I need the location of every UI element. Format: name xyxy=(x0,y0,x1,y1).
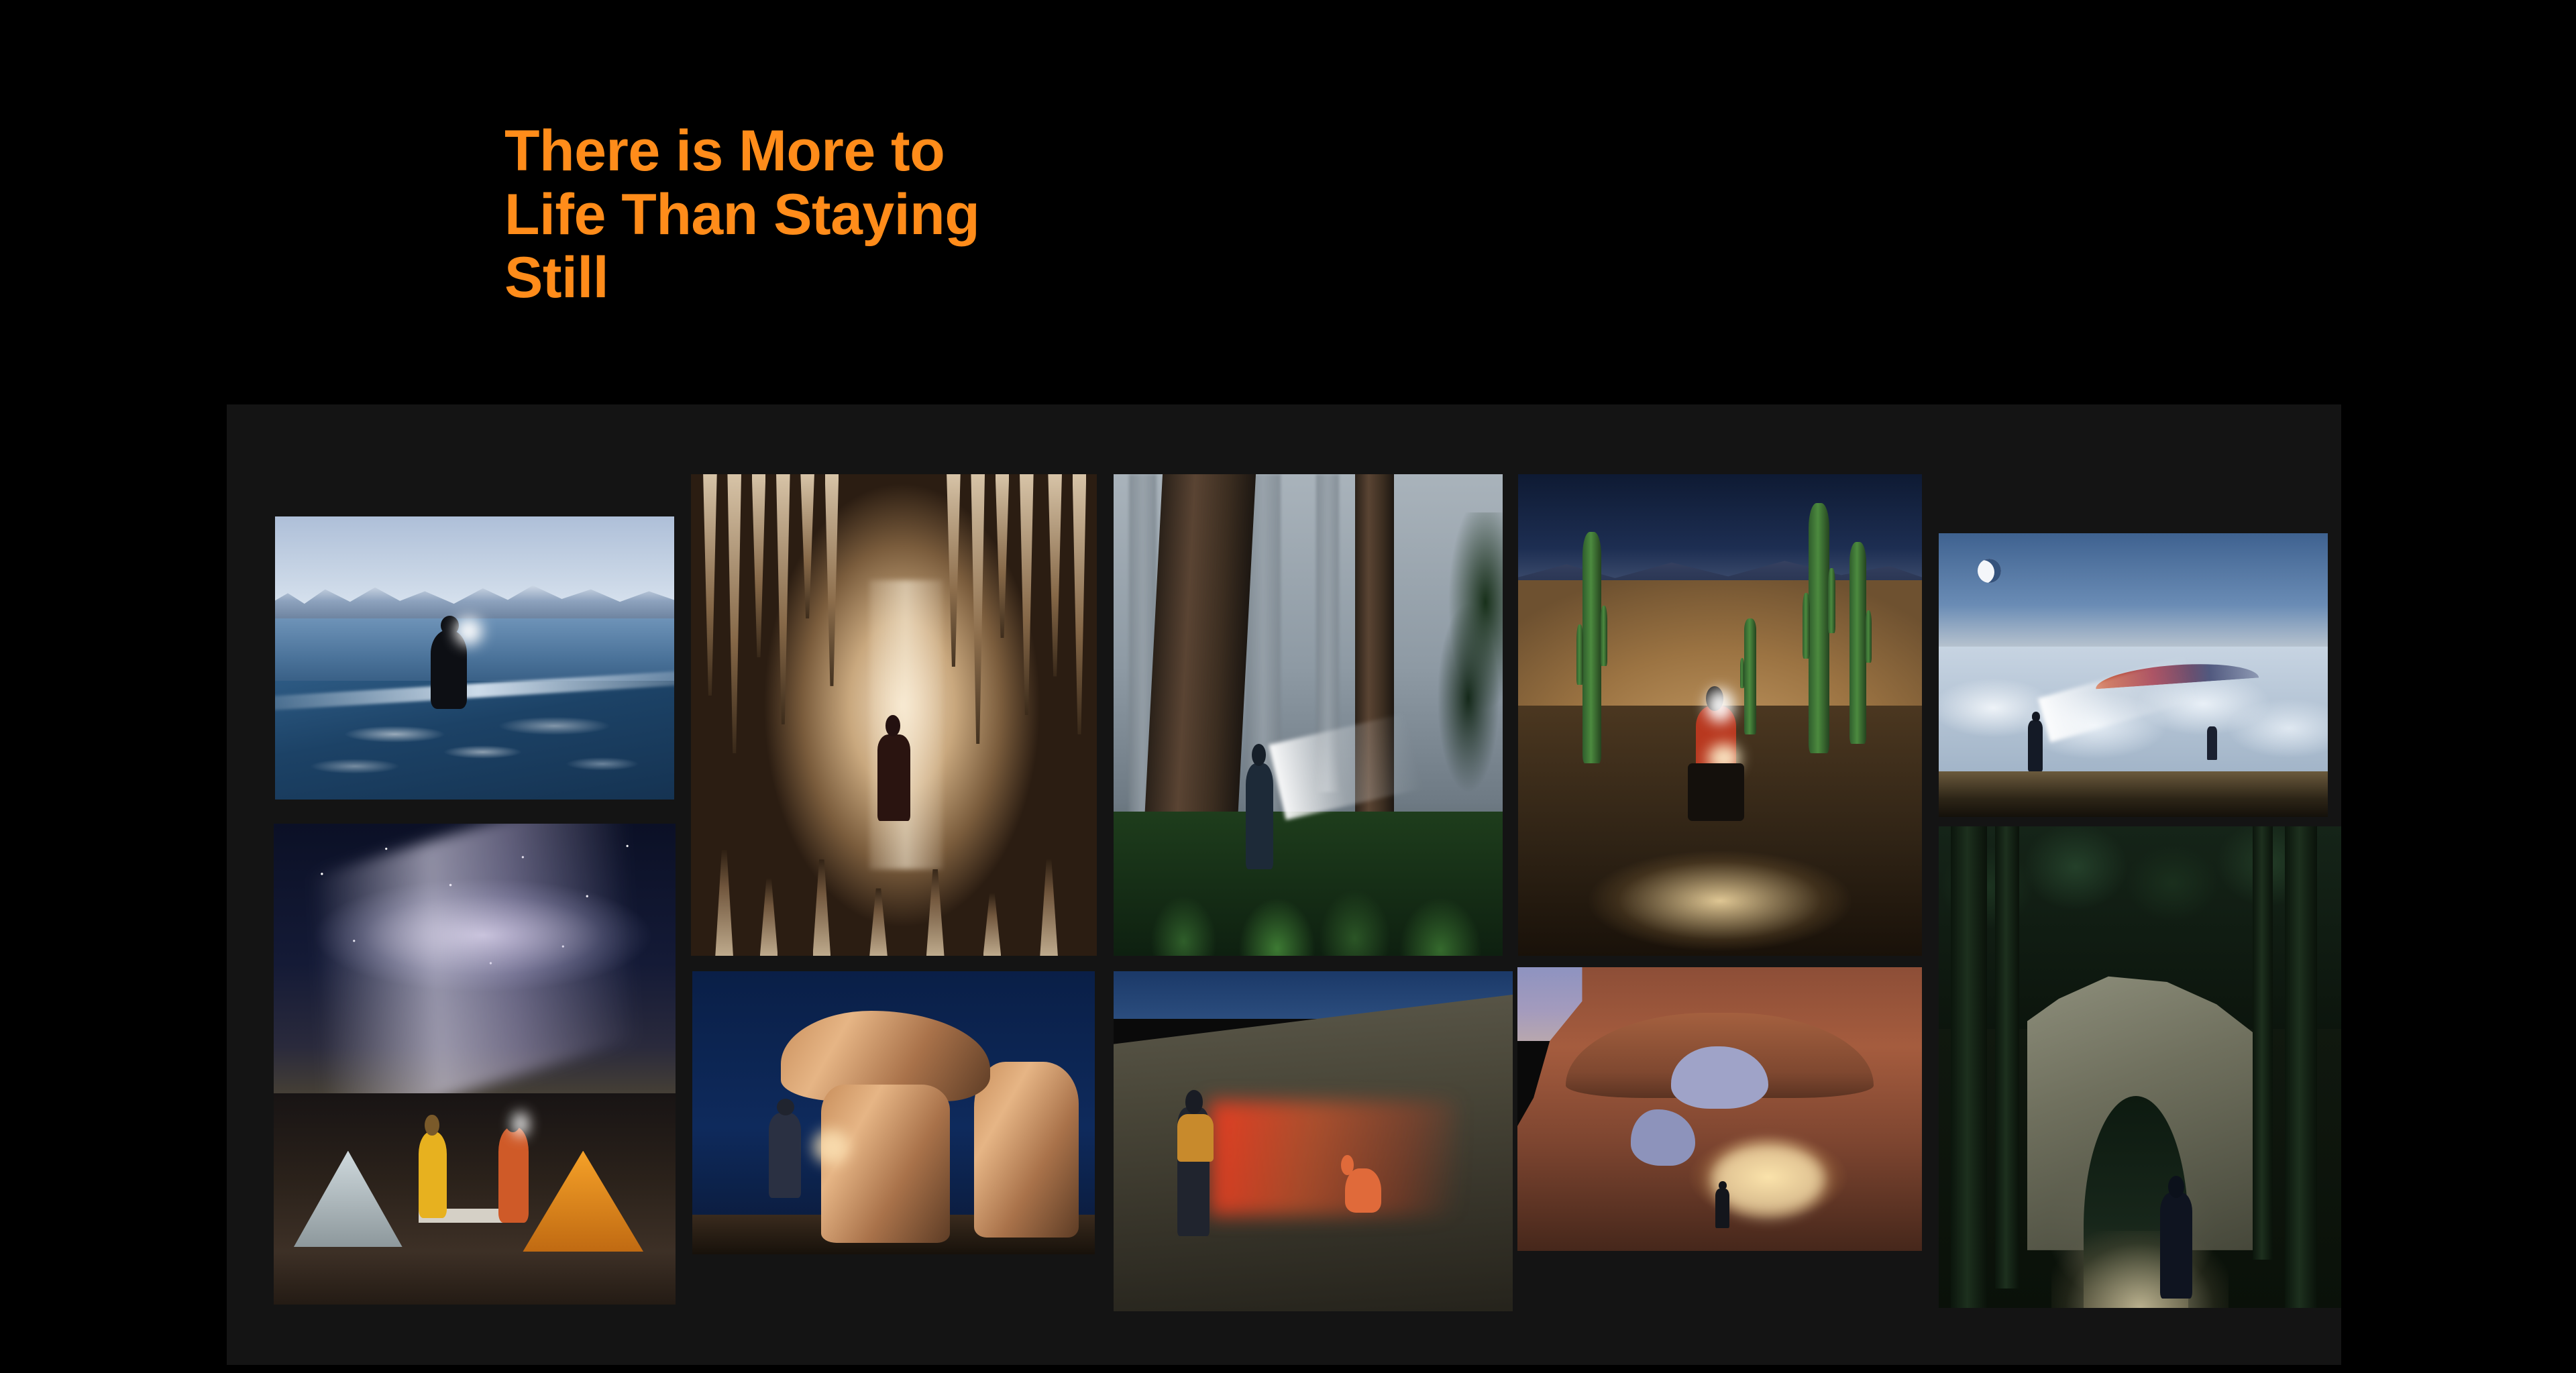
gallery-item-redwood-forest[interactable]: Hiker shining flashlight beam through fo… xyxy=(1114,474,1503,956)
gallery-item-milky-way-camp[interactable]: Two campers at a lit table between tents… xyxy=(274,824,676,1305)
gallery-item-limestone-cave[interactable]: Caver silhouetted among illuminated stal… xyxy=(691,474,1097,956)
gallery-item-paraglider-above-clouds[interactable]: Person with flashlight on a ridge watchi… xyxy=(1939,533,2328,817)
double-arch-scene xyxy=(1517,967,1922,1251)
gallery-item-frozen-lake[interactable]: Explorer with headlamp kneeling on froze… xyxy=(275,516,674,800)
milky-way-camp-scene xyxy=(274,824,676,1305)
gallery-item-sandstone-hoodoo[interactable]: Night hiker with headlamp touching a car… xyxy=(692,971,1095,1254)
page-title: There is More to Life Than Staying Still xyxy=(504,119,1108,310)
forest-ruins-scene xyxy=(1939,826,2341,1308)
desert-night-ride-scene xyxy=(1518,474,1922,956)
gallery-item-desert-night-ride[interactable]: Mountain biker with headlight riding a s… xyxy=(1518,474,1922,956)
limestone-cave-scene xyxy=(691,474,1097,956)
sandstone-hoodoo-scene xyxy=(692,971,1095,1254)
paraglider-above-clouds-scene xyxy=(1939,533,2328,817)
gallery-item-hillside-red-light[interactable]: Photographer on a grassy hillside castin… xyxy=(1114,971,1513,1311)
redwood-forest-scene xyxy=(1114,474,1503,956)
frozen-lake-scene xyxy=(275,516,674,800)
adventure-photo-gallery: Explorer with headlamp kneeling on froze… xyxy=(227,404,2341,1365)
page-root: There is More to Life Than Staying Still… xyxy=(0,0,2576,1373)
hillside-red-light-scene xyxy=(1114,971,1513,1311)
gallery-item-double-arch[interactable]: Lone figure standing under a lit red roc… xyxy=(1517,967,1922,1251)
gallery-item-forest-ruins[interactable]: Hiker walking a lit path toward an ivy-c… xyxy=(1939,826,2341,1308)
